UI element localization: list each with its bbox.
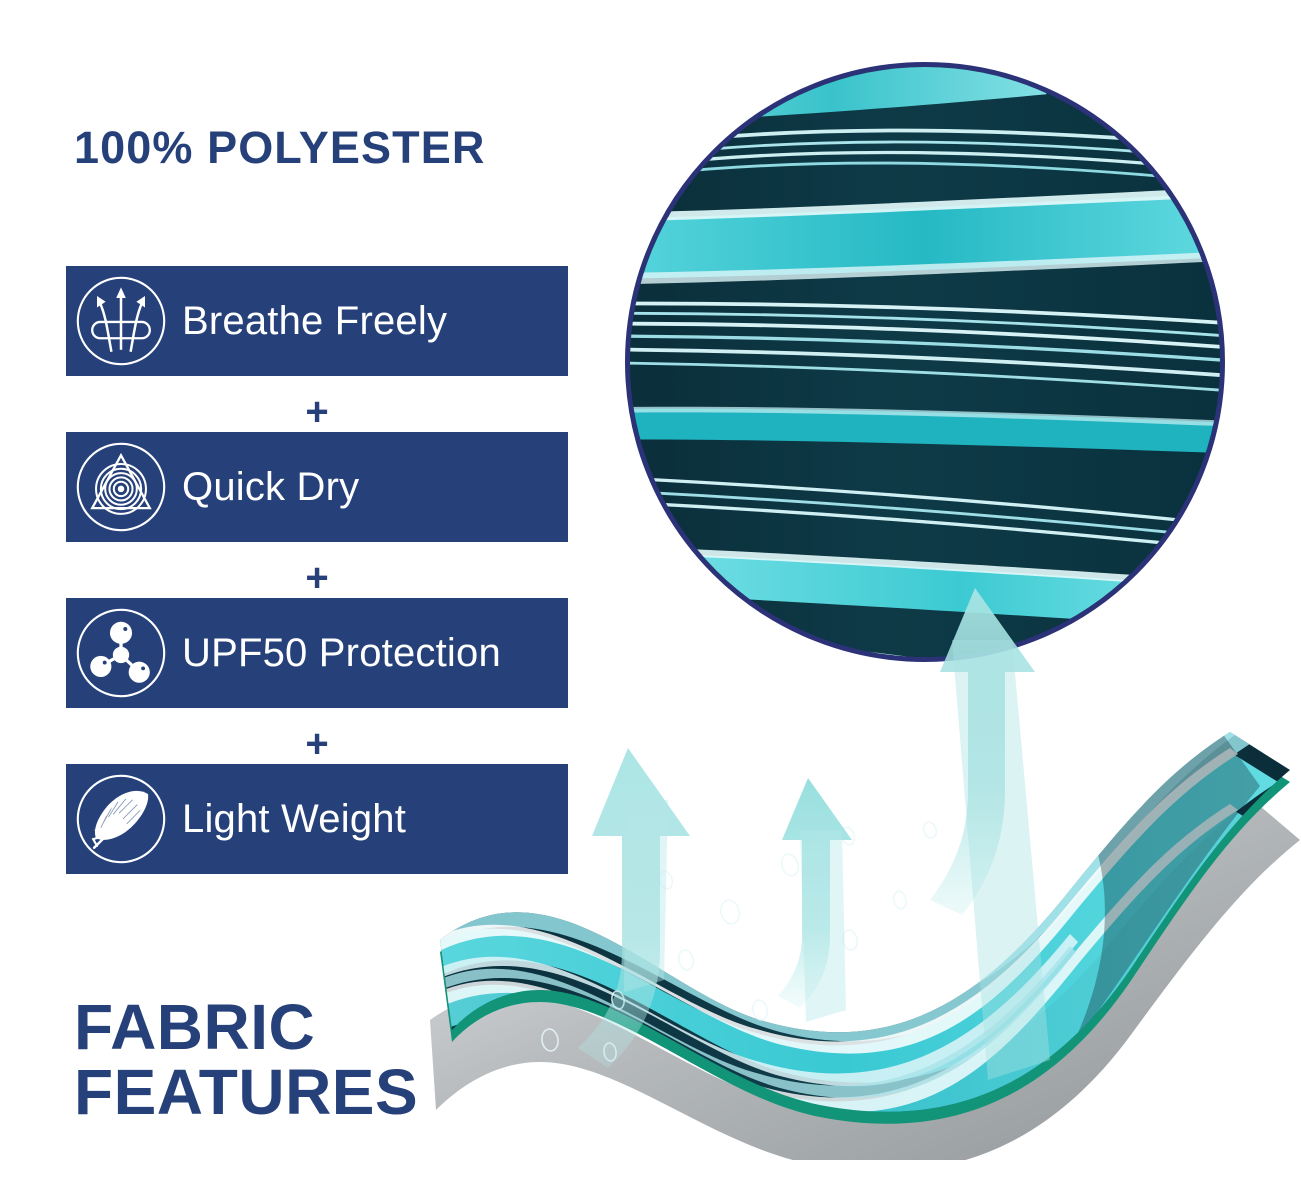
feature-bar-quick-dry: Quick Dry <box>66 432 568 542</box>
bottom-title-line-1: FABRIC <box>74 995 418 1060</box>
plus-separator: + <box>66 558 568 598</box>
fabric-sample-illustration <box>430 690 1300 1160</box>
feature-label: UPF50 Protection <box>182 631 501 676</box>
infographic-canvas: 100% POLYESTER Breathe Freely + <box>0 0 1301 1201</box>
bottom-title: FABRIC FEATURES <box>74 995 418 1126</box>
molecule-icon <box>66 598 176 708</box>
feature-label: Quick Dry <box>182 465 359 510</box>
breathe-arrows-icon <box>66 266 176 376</box>
quick-dry-triangle-rings-icon <box>66 432 176 542</box>
feature-label: Light Weight <box>182 797 406 842</box>
page-title: 100% POLYESTER <box>74 122 485 174</box>
swatch-stripe-pattern <box>625 62 1225 662</box>
feature-bar-breathe-freely: Breathe Freely <box>66 266 568 376</box>
fabric-swatch-circle <box>625 62 1225 662</box>
feather-icon <box>66 764 176 874</box>
plus-separator: + <box>66 392 568 432</box>
bottom-title-line-2: FEATURES <box>74 1060 418 1125</box>
feature-label: Breathe Freely <box>182 299 447 344</box>
